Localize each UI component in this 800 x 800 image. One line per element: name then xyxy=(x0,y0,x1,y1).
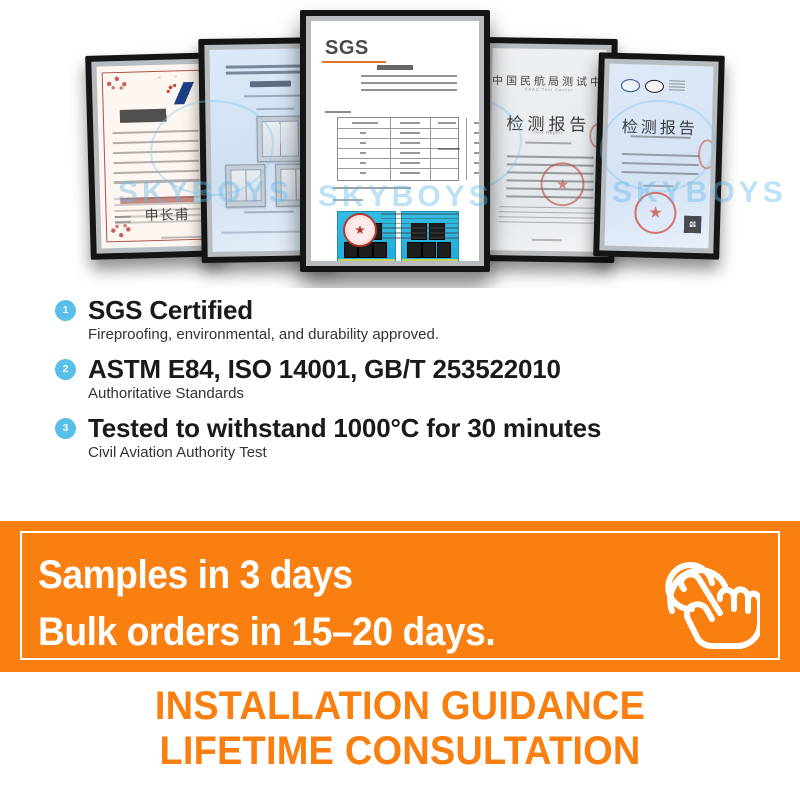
certificate-paper: SGS xyxy=(311,21,479,261)
feature-number-badge: 3 xyxy=(55,418,76,439)
sgs-footer-block xyxy=(337,211,459,247)
feature-title: ASTM E84, ISO 14001, GB/T 253522010 xyxy=(88,355,800,383)
cnas-center-line xyxy=(644,185,673,188)
sgs-footer-text xyxy=(381,213,459,242)
sgs-results-table xyxy=(337,117,459,181)
patent-corner-ornament-icon xyxy=(104,74,130,91)
promo-line-1: Samples in 3 days xyxy=(38,547,495,604)
feature-number-badge: 1 xyxy=(55,300,76,321)
report-subheader-line xyxy=(244,95,303,98)
official-seal-icon xyxy=(343,213,377,247)
sgs-report-title-line xyxy=(377,65,413,70)
caac-footer-lines xyxy=(499,206,595,227)
feature-title: SGS Certified xyxy=(88,296,800,324)
accreditation-logos xyxy=(621,78,685,93)
cnas-report-number-line xyxy=(630,135,690,139)
certificate-paper: 申长甫 xyxy=(96,63,213,248)
feature-item-1: 1 SGS Certified Fireproofing, environmen… xyxy=(0,296,800,344)
edge-seal-icon xyxy=(698,139,714,169)
feature-number-badge: 2 xyxy=(55,359,76,380)
sgs-section-label xyxy=(325,111,351,113)
certificate-cnas[interactable]: 检测报告 xyxy=(593,52,725,259)
sgs-meta-fields xyxy=(361,75,457,96)
tap-hand-icon xyxy=(650,547,760,651)
certificate-mat: SGS xyxy=(306,16,484,266)
caac-report-number-line xyxy=(525,142,571,145)
caac-title-en: Test Report xyxy=(491,129,605,136)
closing-line-2: LIFETIME CONSULTATION xyxy=(20,729,780,774)
promo-text: Samples in 3 days Bulk orders in 15–20 d… xyxy=(38,547,495,661)
patent-signature: 申长甫 xyxy=(144,204,190,225)
sgs-photo-label xyxy=(333,199,363,201)
caac-page-line xyxy=(532,239,562,241)
feature-item-2: 2 ASTM E84, ISO 14001, GB/T 253522010 Au… xyxy=(0,355,800,403)
sgs-logo: SGS xyxy=(325,37,369,60)
patent-signature-label xyxy=(115,215,131,226)
caac-header-en: CAAC Test Center xyxy=(492,86,606,93)
cnas-logo-icon xyxy=(645,79,664,93)
report-photo-caption xyxy=(244,210,294,213)
feature-title: Tested to withstand 1000°C for 30 minute… xyxy=(88,414,800,442)
certificate-paper: 检测报告 xyxy=(604,64,713,249)
sgs-table-note xyxy=(333,187,411,189)
patent-title-line xyxy=(120,108,200,123)
feature-subtitle: Civil Aviation Authority Test xyxy=(88,444,800,462)
certificate-mat: 检测报告 xyxy=(599,58,718,253)
closing-headline: INSTALLATION GUIDANCE LIFETIME CONSULTAT… xyxy=(20,684,780,774)
closing-line-1: INSTALLATION GUIDANCE xyxy=(20,684,780,729)
accreditation-caption xyxy=(669,80,685,92)
patent-emblem-icon xyxy=(165,82,196,105)
promo-line-2: Bulk orders in 15–20 days. xyxy=(38,604,495,661)
feature-subtitle: Fireproofing, environmental, and durabil… xyxy=(88,326,800,344)
certificate-mat: 中国民航局测试中心 CAAC Test Center 检测报告 Test Rep… xyxy=(484,43,611,257)
promo-banner: Samples in 3 days Bulk orders in 15–20 d… xyxy=(0,521,800,672)
patent-field-rows xyxy=(112,130,200,192)
ilac-mra-logo-icon xyxy=(621,78,640,92)
feature-subtitle: Authoritative Standards xyxy=(88,385,800,403)
certification-gallery: 申长甫 SGS xyxy=(0,0,800,288)
feature-list: 1 SGS Certified Fireproofing, environmen… xyxy=(0,296,800,465)
certificate-paper: 中国民航局测试中心 CAAC Test Center 检测报告 Test Rep… xyxy=(489,48,606,252)
report-photo xyxy=(256,115,304,162)
cnas-body-lines xyxy=(621,153,699,182)
certificate-sgs[interactable]: SGS xyxy=(300,10,490,272)
feature-item-3: 3 Tested to withstand 1000°C for 30 minu… xyxy=(0,414,800,462)
qr-code-icon xyxy=(684,216,701,233)
official-seal-icon xyxy=(634,192,677,235)
report-photo xyxy=(225,164,266,207)
report-caption-line xyxy=(256,107,295,110)
